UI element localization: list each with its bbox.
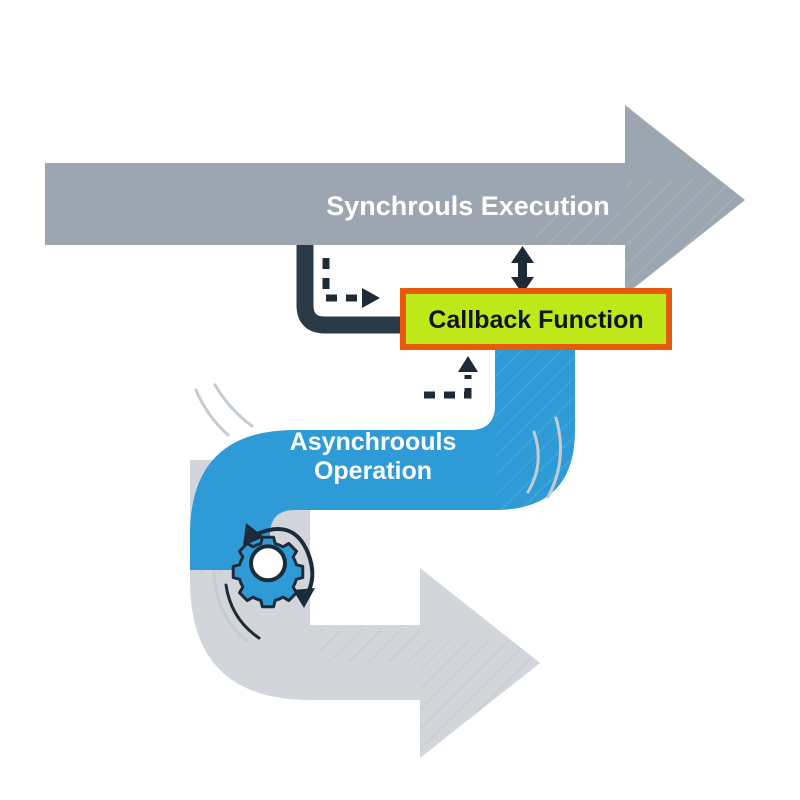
dashed-arrow-right-up-path <box>424 375 468 395</box>
async-flow-label-line1: Asynchroouls <box>290 428 457 456</box>
bidirectional-arrow-head-up <box>511 246 534 263</box>
callback-function-box[interactable]: Callback Function <box>403 291 669 347</box>
dashed-arrow-right-up-head <box>458 356 478 372</box>
async-flow-label-line2: Operation <box>314 457 432 485</box>
dashed-arrow-down-right-head <box>362 288 380 308</box>
sync-to-callback-connector <box>305 245 405 325</box>
dashed-arrow-right-up <box>424 356 478 395</box>
return-arrow-hatching <box>400 640 570 770</box>
dashed-arrow-down-right-path <box>326 258 360 298</box>
gear-icon <box>233 537 303 607</box>
gear-center-hole <box>251 546 285 580</box>
dashed-arrow-down-right <box>326 258 380 308</box>
callback-flow-diagram: Synchrouls Execution Asynchroouls Operat… <box>0 0 800 800</box>
async-band-hatching <box>495 340 585 515</box>
bidirectional-arrow <box>511 246 534 294</box>
sync-flow-label: Synchrouls Execution <box>326 191 610 221</box>
diagram-canvas: Synchrouls Execution Asynchroouls Operat… <box>0 0 800 800</box>
synchronous-execution-arrow: Synchrouls Execution <box>45 105 780 320</box>
motion-arc-top-left-inner <box>215 385 252 426</box>
callback-box-label: Callback Function <box>428 306 643 334</box>
